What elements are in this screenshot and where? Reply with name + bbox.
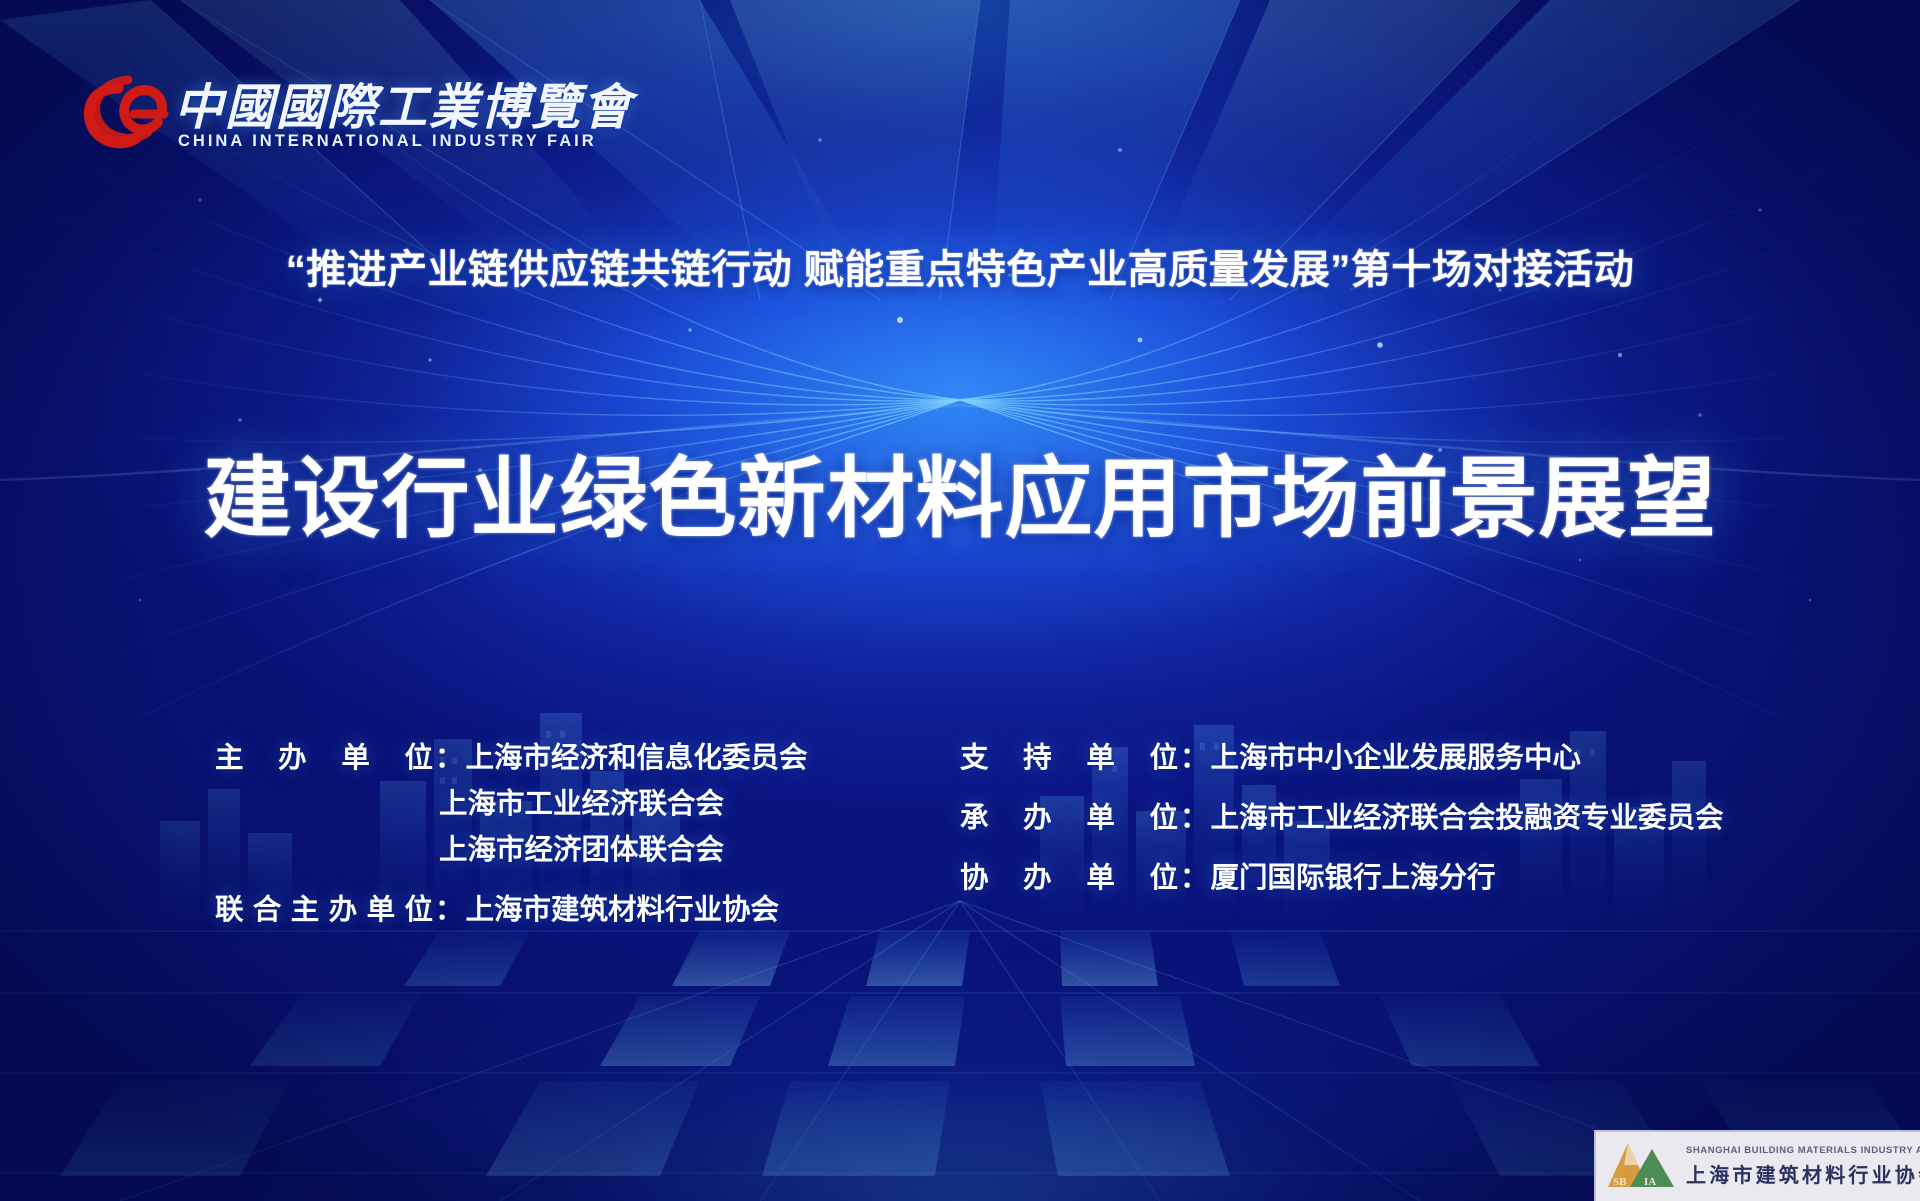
organizer-row: 联合主办单位 ： 上海市建筑材料行业协会 <box>215 887 835 933</box>
organizer-label: 联合主办单位 <box>215 887 433 928</box>
organizer-row: 主办单位 ： 上海市经济和信息化委员会 <box>215 735 835 781</box>
organizer-colon: ： <box>433 887 466 928</box>
ciif-name-en: CHINA INTERNATIONAL INDUSTRY FAIR <box>178 132 597 151</box>
organizer-colon: ： <box>433 735 466 776</box>
organizer-value: 上海市工业经济联合会 <box>439 781 724 822</box>
organizer-value: 上海市经济团体联合会 <box>439 827 724 868</box>
organizer-row: 承办单位 ： 上海市工业经济联合会投融资专业委员会 <box>960 795 1820 841</box>
organizer-column-left: 主办单位 ： 上海市经济和信息化委员会 上海市工业经济联合会 上海市经济团体联合… <box>215 735 835 933</box>
page-title: 建设行业绿色新材料应用市场前景展望 <box>0 428 1920 555</box>
sbmia-badge: SB IA SHANGHAI BUILDING MATERIALS INDUST… <box>1594 1130 1920 1201</box>
event-backdrop-poster: 中國國際工業博覽會 CHINA INTERNATIONAL INDUSTRY F… <box>0 0 1920 1201</box>
ciif-name-cn: 中國國際工業博覽會 <box>174 68 633 139</box>
ciif-swirl-icon <box>78 74 170 160</box>
ciif-logo: 中國國際工業博覽會 CHINA INTERNATIONAL INDUSTRY F… <box>78 66 508 170</box>
organizer-label: 主办单位 <box>215 735 433 776</box>
organizer-row: 支持单位 ： 上海市中小企业发展服务中心 <box>960 735 1820 781</box>
event-subtitle: “推进产业链供应链共链行动 赋能重点特色产业高质量发展”第十场对接活动 <box>0 237 1920 295</box>
organizer-row: 协办单位 ： 厦门国际银行上海分行 <box>960 855 1820 901</box>
organizer-value: 上海市中小企业发展服务中心 <box>1211 735 1582 776</box>
sbmia-name-en: SHANGHAI BUILDING MATERIALS INDUSTRY ASS… <box>1686 1145 1920 1156</box>
organizer-value: 厦门国际银行上海分行 <box>1211 855 1496 896</box>
organizer-colon: ： <box>1178 735 1211 776</box>
organizer-row: 上海市工业经济联合会 <box>215 781 835 827</box>
organizer-value: 上海市建筑材料行业协会 <box>466 887 780 928</box>
organizer-column-right: 支持单位 ： 上海市中小企业发展服务中心 承办单位 ： 上海市工业经济联合会投融… <box>960 735 1820 901</box>
organizer-value: 上海市经济和信息化委员会 <box>466 735 808 776</box>
organizer-colon: ： <box>1178 855 1211 896</box>
organizer-label: 支持单位 <box>960 735 1178 776</box>
sbmia-name-cn: 上海市建筑材料行业协会 <box>1686 1159 1920 1188</box>
svg-text:SB: SB <box>1613 1176 1627 1188</box>
svg-text:IA: IA <box>1644 1176 1656 1188</box>
organizer-block: 主办单位 ： 上海市经济和信息化委员会 上海市工业经济联合会 上海市经济团体联合… <box>0 735 1920 915</box>
organizer-label: 承办单位 <box>960 795 1178 836</box>
organizer-colon: ： <box>1178 795 1211 836</box>
sbmia-mountain-icon: SB IA <box>1604 1139 1678 1195</box>
organizer-value: 上海市工业经济联合会投融资专业委员会 <box>1211 795 1724 836</box>
organizer-label: 协办单位 <box>960 855 1178 896</box>
organizer-row: 上海市经济团体联合会 <box>215 827 835 873</box>
